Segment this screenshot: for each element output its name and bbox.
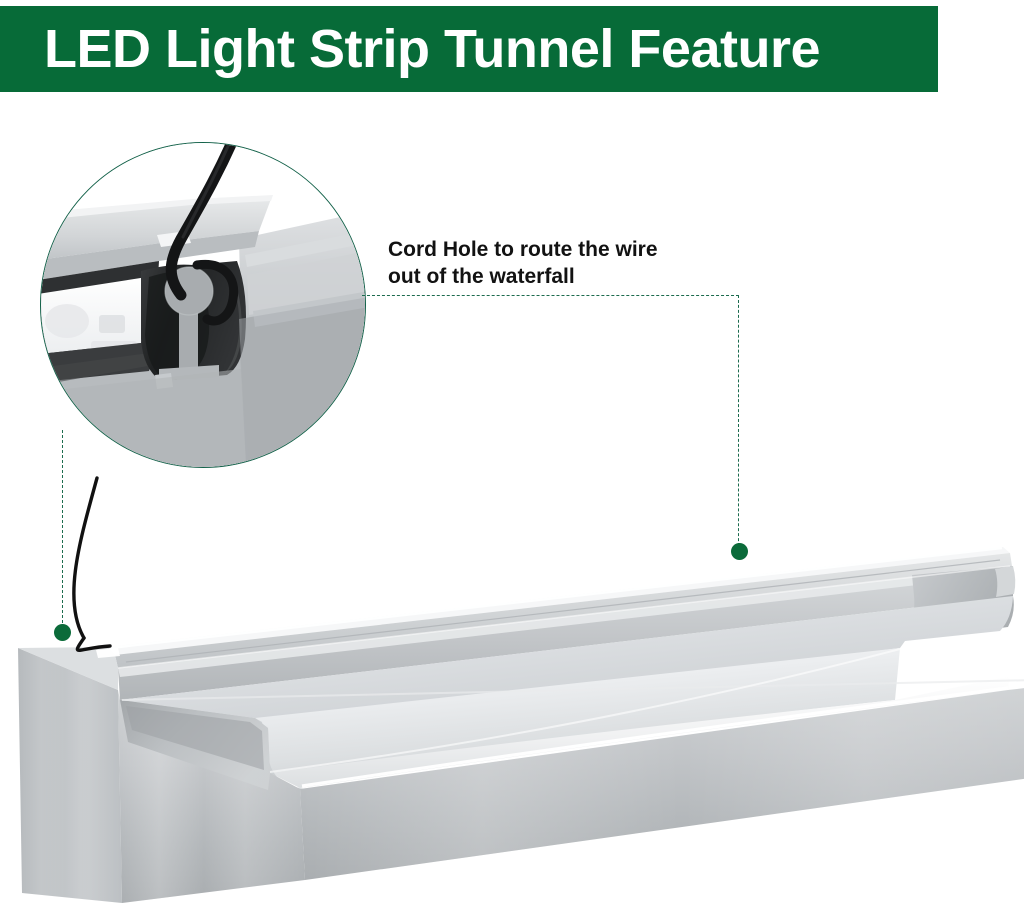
leader-line-vertical-left	[62, 430, 63, 633]
callout-line-1: Cord Hole to route the wire	[388, 236, 738, 263]
infographic-page: LED Light Strip Tunnel Feature	[0, 0, 1024, 903]
callout-label: Cord Hole to route the wire out of the w…	[388, 236, 738, 290]
marker-dot-cord-hole	[731, 543, 748, 560]
magnified-cord-hole-view	[41, 143, 366, 468]
leader-line-horizontal	[362, 295, 739, 296]
cord-hole-detail-magnifier	[40, 142, 366, 468]
page-title: LED Light Strip Tunnel Feature	[44, 20, 820, 78]
leader-line-vertical-right	[738, 295, 739, 551]
title-banner: LED Light Strip Tunnel Feature	[0, 6, 938, 92]
callout-line-2: out of the waterfall	[388, 263, 738, 290]
marker-dot-cord-exit	[54, 624, 71, 641]
